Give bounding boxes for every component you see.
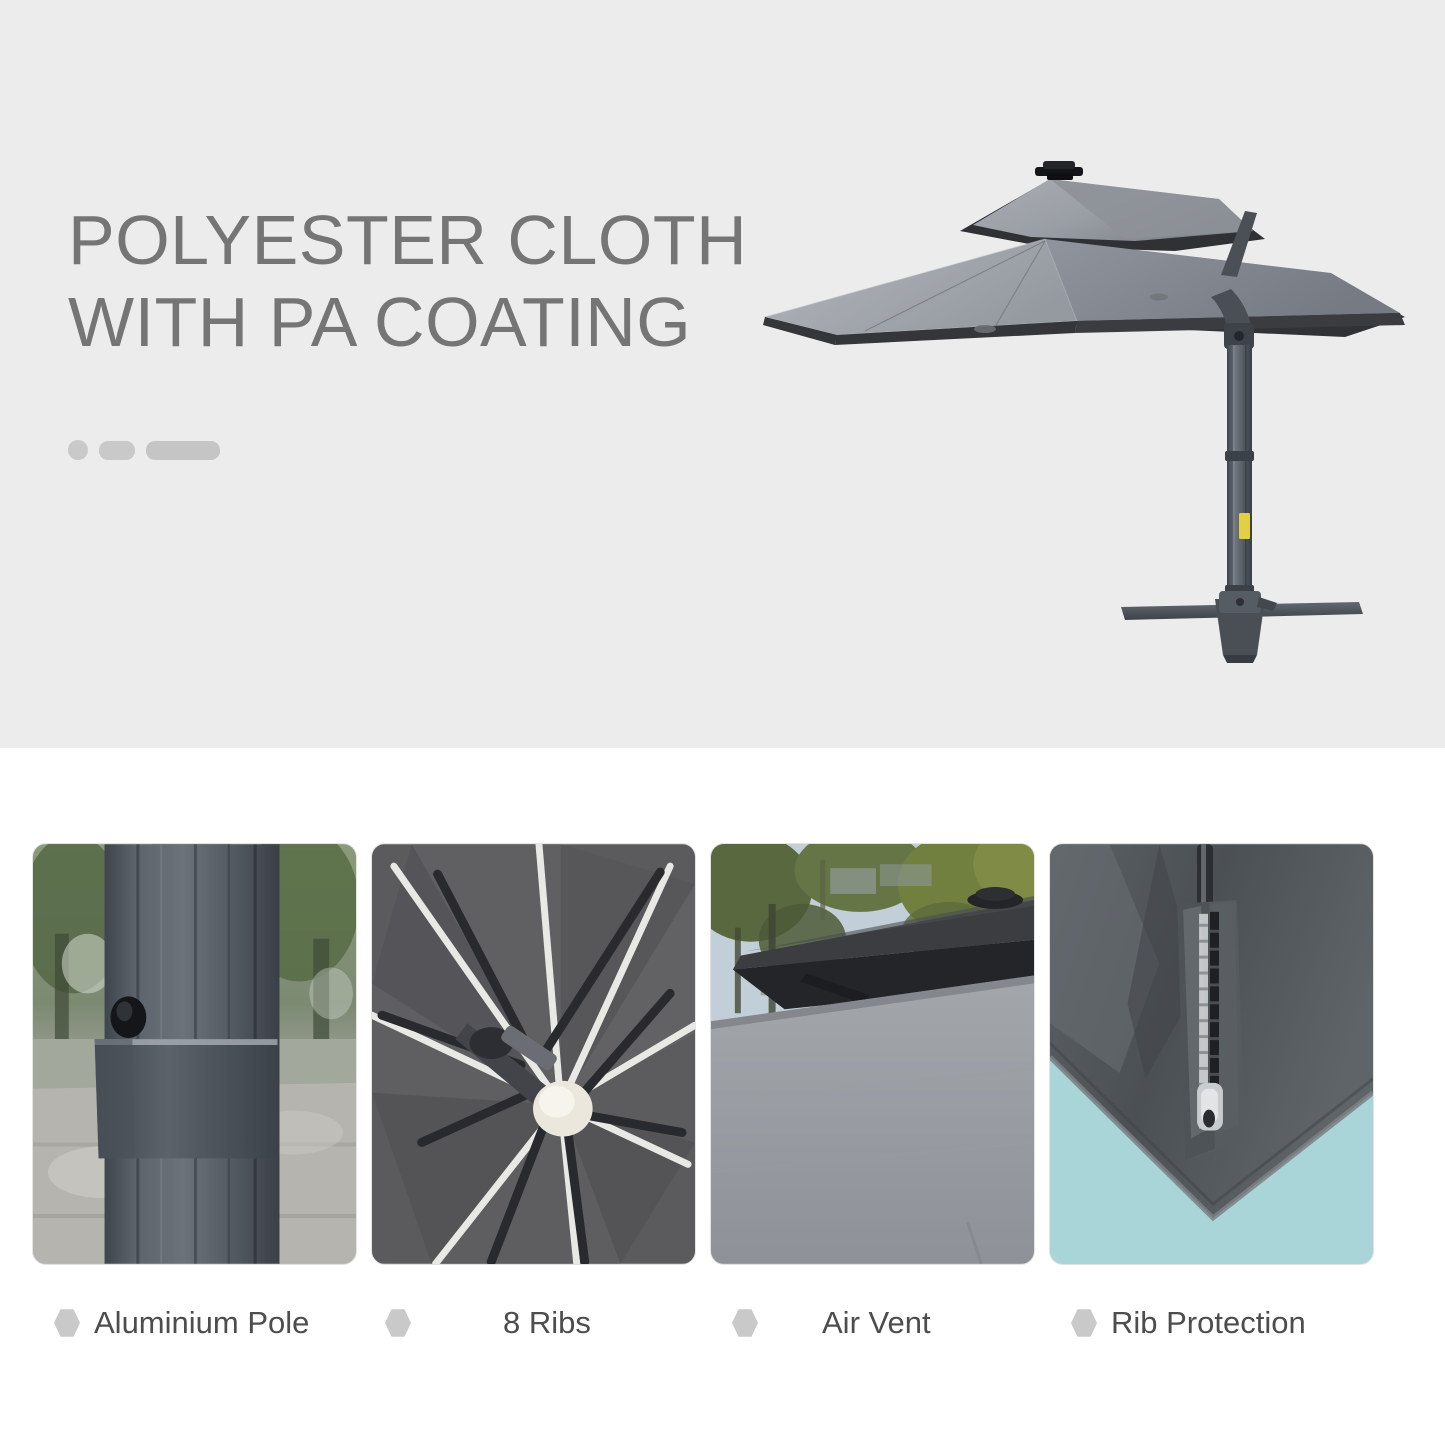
- hexagon-bullet-icon: [732, 1308, 758, 1338]
- warning-sticker: [1239, 513, 1250, 539]
- feature-label-air-vent: Air Vent: [710, 1288, 1035, 1358]
- decoration-short-bar: [99, 441, 135, 460]
- feature-label-text: Air Vent: [822, 1305, 931, 1341]
- feature-label-text: Rib Protection: [1111, 1305, 1306, 1341]
- hexagon-bullet-icon: [54, 1308, 80, 1338]
- pole-collar-upper: [1225, 451, 1254, 461]
- page-title: POLYESTER CLOTH WITH PA COATING: [68, 200, 828, 364]
- zipper-pull: [1197, 1083, 1223, 1131]
- decoration-dots-bars: [68, 440, 220, 460]
- feature-label-row: Aluminium Pole 8 Ribs Air Vent Rib Prote…: [0, 1288, 1445, 1358]
- solar-panel-finial: [1035, 161, 1083, 180]
- thumbnail-8-ribs[interactable]: [371, 843, 696, 1265]
- feature-label-text: 8 Ribs: [503, 1305, 591, 1341]
- feature-label-aluminium-pole: Aluminium Pole: [32, 1288, 357, 1358]
- decoration-circle: [68, 440, 88, 460]
- thumbnail-rib-protection[interactable]: [1049, 843, 1374, 1265]
- main-canopy-left-face: [765, 239, 1077, 335]
- product-image-umbrella: [745, 155, 1445, 675]
- cross-base: [1121, 591, 1363, 663]
- hexagon-bullet-icon: [385, 1308, 411, 1338]
- feature-label-8-ribs: 8 Ribs: [371, 1288, 696, 1358]
- decoration-long-bar: [146, 441, 220, 460]
- feature-label-text: Aluminium Pole: [94, 1305, 309, 1341]
- thumbnail-aluminium-pole[interactable]: [32, 843, 357, 1265]
- feature-label-rib-protection: Rib Protection: [1049, 1288, 1374, 1358]
- thumbnail-air-vent[interactable]: [710, 843, 1035, 1265]
- feature-thumbnail-strip: [0, 843, 1445, 1265]
- hexagon-bullet-icon: [1071, 1308, 1097, 1338]
- hero-panel: POLYESTER CLOTH WITH PA COATING: [0, 0, 1445, 748]
